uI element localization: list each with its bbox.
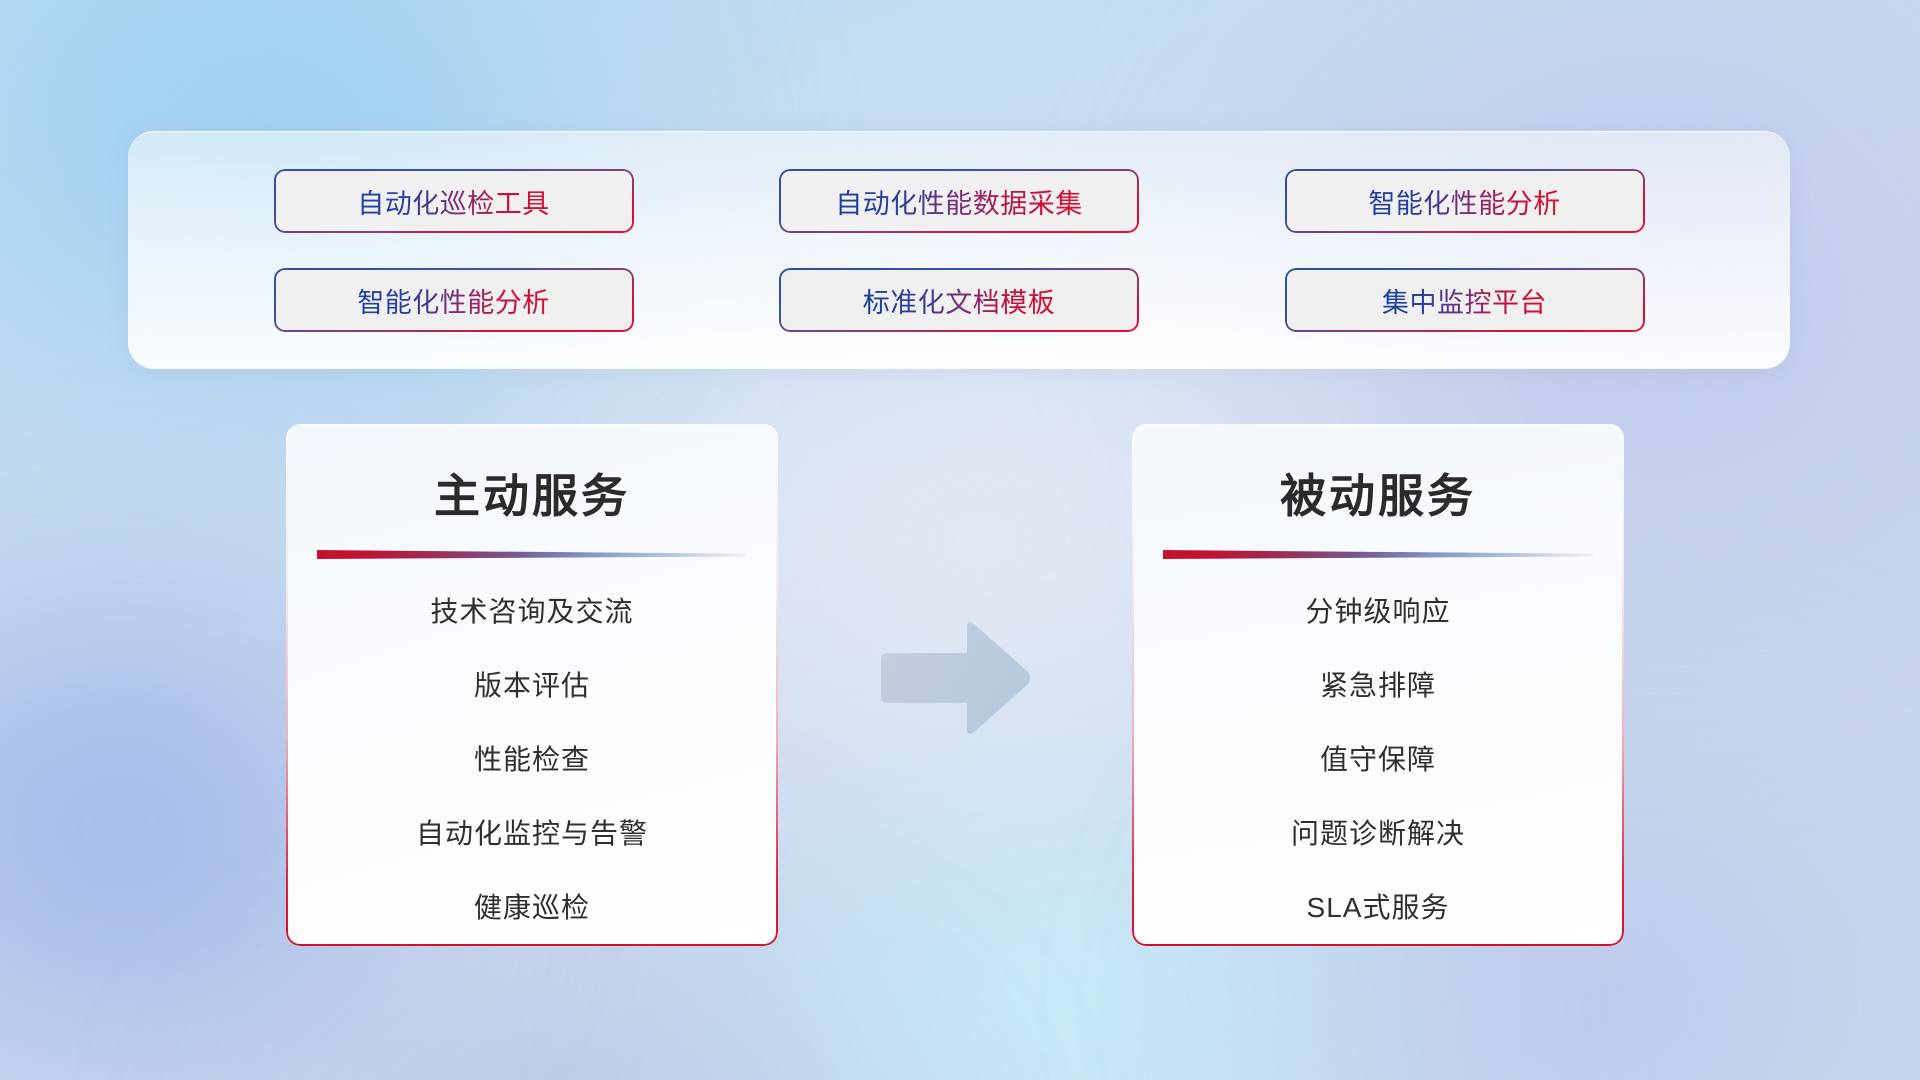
capability-pill-label: 自动化巡检工具 <box>357 182 550 221</box>
card-title: 被动服务 <box>1280 460 1476 526</box>
card-list-item: 紧急排障 <box>1320 667 1436 704</box>
card-list-item: 值守保障 <box>1320 741 1436 778</box>
card-inner: 被动服务 分钟级响应 紧急排障 值守保障 问题诊断解决 SLA式服务 <box>1132 424 1624 946</box>
capability-pill[interactable]: 智能化性能分析 <box>1285 169 1645 233</box>
capability-pill-label: 标准化文档模板 <box>863 281 1056 320</box>
capability-pill-label: 智能化性能分析 <box>357 281 550 320</box>
card-item-list: 技术咨询及交流 版本评估 性能检查 自动化监控与告警 健康巡检 <box>286 593 778 926</box>
capability-pill-label: 集中监控平台 <box>1382 281 1547 320</box>
card-list-item: 分钟级响应 <box>1305 593 1450 630</box>
capability-pill[interactable]: 自动化性能数据采集 <box>779 169 1139 233</box>
capability-pill[interactable]: 智能化性能分析 <box>274 268 634 332</box>
capability-pill[interactable]: 集中监控平台 <box>1285 268 1645 332</box>
card-divider <box>317 550 747 559</box>
service-card-proactive: 主动服务 技术咨询及交流 版本评估 性能检查 自动化监控与告警 健康巡检 <box>286 424 778 946</box>
card-divider <box>1163 550 1593 559</box>
capability-pill[interactable]: 自动化巡检工具 <box>274 169 634 233</box>
card-list-item: 版本评估 <box>474 667 590 704</box>
capability-pill-label: 智能化性能分析 <box>1368 182 1561 221</box>
card-list-item: 问题诊断解决 <box>1291 815 1465 852</box>
card-list-item: 健康巡检 <box>474 889 590 926</box>
card-title: 主动服务 <box>434 460 630 526</box>
card-list-item: 自动化监控与告警 <box>416 815 648 852</box>
card-divider-gradient <box>1163 550 1593 559</box>
card-inner: 主动服务 技术咨询及交流 版本评估 性能检查 自动化监控与告警 健康巡检 <box>286 424 778 946</box>
card-list-item: 技术咨询及交流 <box>430 593 633 630</box>
capability-pill[interactable]: 标准化文档模板 <box>779 268 1139 332</box>
card-item-list: 分钟级响应 紧急排障 值守保障 问题诊断解决 SLA式服务 <box>1132 593 1624 926</box>
card-list-item: 性能检查 <box>474 741 590 778</box>
capability-pill-grid: 自动化巡检工具 自动化性能数据采集 智能化性能分析 智能化性能分析 标准化文档模… <box>128 132 1790 369</box>
capability-panel: 自动化巡检工具 自动化性能数据采集 智能化性能分析 智能化性能分析 标准化文档模… <box>128 131 1790 369</box>
arrow-right-icon <box>875 618 1035 738</box>
card-list-item: SLA式服务 <box>1307 889 1450 926</box>
service-card-reactive: 被动服务 分钟级响应 紧急排障 值守保障 问题诊断解决 SLA式服务 <box>1132 424 1624 946</box>
card-divider-gradient <box>317 550 747 559</box>
capability-pill-label: 自动化性能数据采集 <box>835 182 1083 221</box>
